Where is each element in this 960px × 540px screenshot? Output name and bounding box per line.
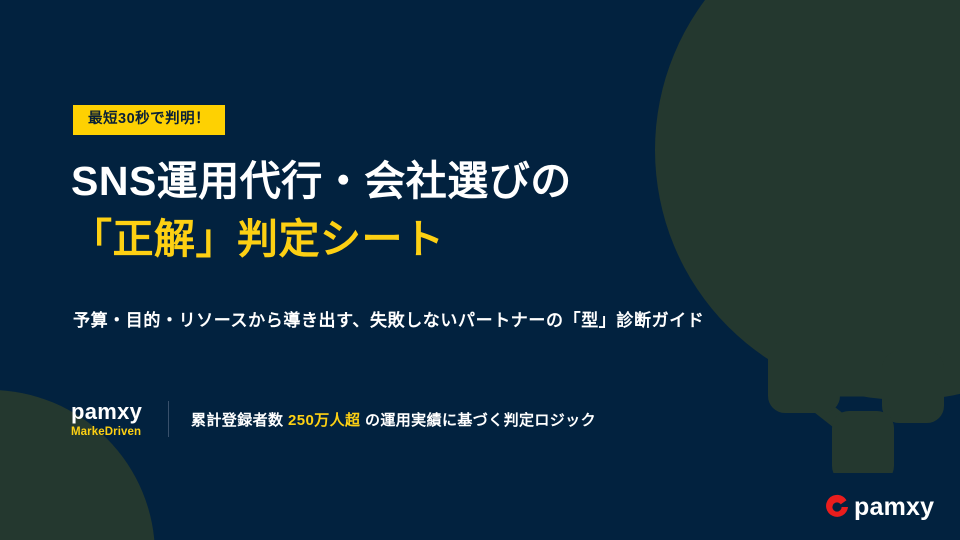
corner-logo-text: pamxy (854, 495, 934, 520)
ring-mark-icon (824, 494, 850, 520)
page-title: SNS運用代行・会社選びの 「正解」判定シート (71, 152, 771, 268)
headline-line-1: SNS運用代行・会社選びの (71, 152, 771, 210)
subtitle: 予算・目的・リソースから導き出す、失敗しないパートナーの「型」診断ガイド (73, 306, 704, 331)
footer-stat: 累計登録者数 250万人超 の運用実績に基づく判定ロジック (191, 409, 596, 430)
brand-lockup: pamxy MarkeDriven (71, 400, 153, 438)
corner-logo: pamxy (824, 494, 934, 520)
brand-tagline: MarkeDriven (71, 426, 153, 438)
slide-canvas: 最短30秒で判明！ SNS運用代行・会社選びの 「正解」判定シート 予算・目的・… (0, 0, 960, 540)
footer-stat-accent: 250万人超 (288, 412, 360, 429)
footer-stat-suffix: の運用実績に基づく判定ロジック (360, 412, 596, 429)
footer-stat-prefix: 累計登録者数 (191, 412, 288, 429)
footer-divider (168, 401, 169, 437)
eyebrow-badge: 最短30秒で判明！ (73, 105, 225, 135)
footer-strip: pamxy MarkeDriven 累計登録者数 250万人超 の運用実績に基づ… (71, 398, 596, 440)
headline-line-2: 「正解」判定シート (71, 210, 771, 268)
share-network-icon (762, 333, 947, 473)
brand-name: pamxy (71, 400, 153, 423)
